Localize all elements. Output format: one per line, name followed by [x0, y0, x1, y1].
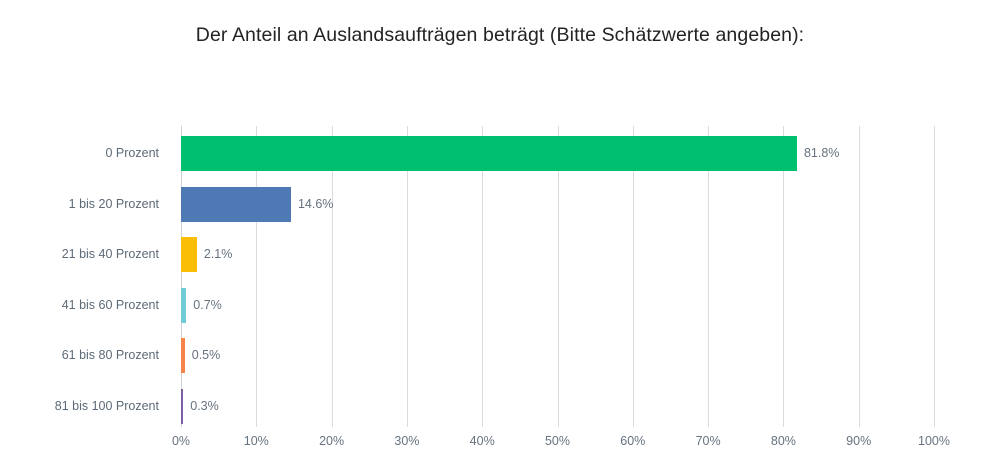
category-label-6: 81 bis 100 Prozent	[0, 389, 171, 424]
category-label-2: 1 bis 20 Prozent	[0, 187, 171, 222]
bar-row: 14.6%	[181, 187, 934, 222]
x-tick-60%: 60%	[620, 434, 645, 448]
x-tick-40%: 40%	[470, 434, 495, 448]
x-axis-tick-labels: 0%10%20%30%40%50%60%70%80%90%100%	[181, 434, 934, 454]
bar-value-label: 2.1%	[197, 237, 233, 272]
x-tick-30%: 30%	[394, 434, 419, 448]
x-tick-80%: 80%	[771, 434, 796, 448]
bar-value-label: 81.8%	[797, 136, 839, 171]
bar-1[interactable]	[181, 136, 797, 171]
bar-row: 0.5%	[181, 338, 934, 373]
x-tick-10%: 10%	[244, 434, 269, 448]
bar-value-label: 14.6%	[291, 187, 333, 222]
bar-row: 81.8%	[181, 136, 934, 171]
category-label-5: 61 bis 80 Prozent	[0, 338, 171, 373]
bar-value-label: 0.7%	[186, 288, 222, 323]
x-tick-70%: 70%	[696, 434, 721, 448]
gridline-100%	[934, 126, 935, 427]
chart-title: Der Anteil an Auslandsaufträgen beträgt …	[0, 24, 1000, 47]
bar-value-label: 0.5%	[185, 338, 221, 373]
bar-series: 81.8%14.6%2.1%0.7%0.5%0.3%	[181, 126, 934, 427]
bar-3[interactable]	[181, 237, 197, 272]
chart-container: Der Anteil an Auslandsaufträgen beträgt …	[0, 0, 1000, 467]
x-tick-100%: 100%	[918, 434, 950, 448]
category-label-4: 41 bis 60 Prozent	[0, 288, 171, 323]
x-tick-50%: 50%	[545, 434, 570, 448]
x-tick-90%: 90%	[846, 434, 871, 448]
plot-area: 81.8%14.6%2.1%0.7%0.5%0.3%	[181, 126, 934, 427]
category-label-1: 0 Prozent	[0, 136, 171, 171]
bar-value-label: 0.3%	[183, 389, 219, 424]
x-tick-20%: 20%	[319, 434, 344, 448]
y-axis-category-labels: 0 Prozent1 bis 20 Prozent21 bis 40 Proze…	[0, 126, 171, 427]
bar-row: 0.3%	[181, 389, 934, 424]
bar-row: 2.1%	[181, 237, 934, 272]
x-tick-0%: 0%	[172, 434, 190, 448]
category-label-3: 21 bis 40 Prozent	[0, 237, 171, 272]
bar-row: 0.7%	[181, 288, 934, 323]
bar-2[interactable]	[181, 187, 291, 222]
